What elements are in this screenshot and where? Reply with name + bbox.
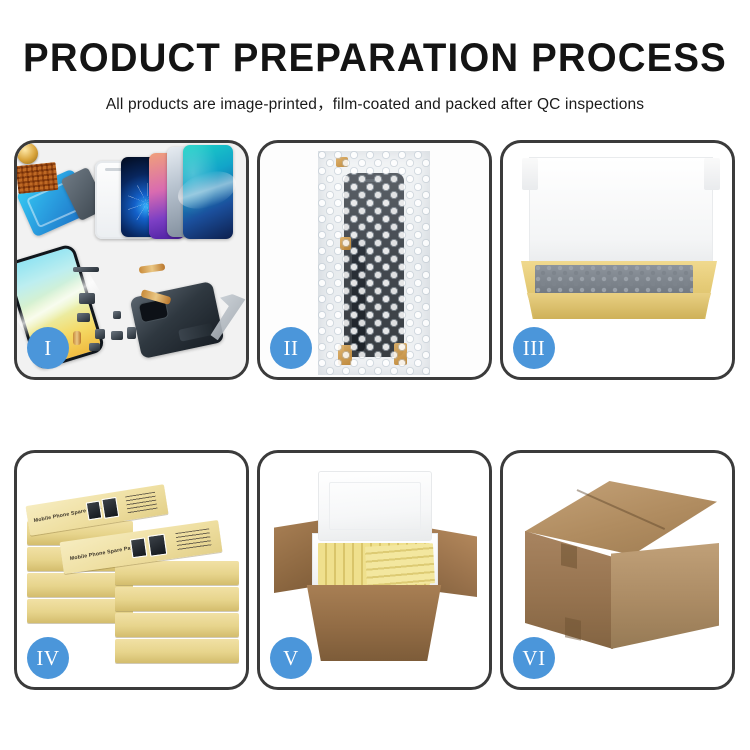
- stacked-box: [115, 587, 239, 611]
- box-spec-lines: [125, 492, 157, 514]
- process-step-panel-2[interactable]: II: [257, 140, 492, 380]
- step-badge-6: VI: [513, 637, 555, 679]
- box-thumbnail: [148, 534, 168, 557]
- product-preparation-process-page: PRODUCT PREPARATION PROCESS All products…: [0, 0, 750, 750]
- flex-cable-graphic: [139, 263, 166, 274]
- bubble-texture: [318, 151, 430, 375]
- box-thumbnail: [86, 500, 103, 520]
- copper-mesh-chip-graphic: [17, 162, 58, 194]
- foam-lid-graphic: [318, 471, 432, 541]
- step-badge-4: IV: [27, 637, 69, 679]
- page-title: PRODUCT PREPARATION PROCESS: [15, 38, 735, 78]
- teal-swirl-phone-graphic: [183, 145, 233, 239]
- carton-tape-graphic: [565, 617, 581, 640]
- yellow-box-front-graphic: [523, 293, 715, 319]
- grey-foam-padding-graphic: [535, 265, 693, 297]
- box-thumbnail: [101, 497, 119, 519]
- step-badge-2: II: [270, 327, 312, 369]
- gold-coil-graphic: [17, 143, 38, 164]
- small-part-graphic: [73, 267, 99, 272]
- stacked-box: [115, 613, 239, 637]
- page-subtitle: All products are image-printed，film-coat…: [0, 92, 750, 114]
- carton-body-graphic: [304, 585, 444, 661]
- page-header: PRODUCT PREPARATION PROCESS All products…: [0, 0, 750, 114]
- process-step-grid: I II: [14, 140, 736, 690]
- process-step-panel-1[interactable]: I: [14, 140, 249, 380]
- small-part-graphic: [77, 313, 90, 322]
- small-part-graphic: [127, 327, 136, 339]
- small-part-graphic: [111, 331, 123, 340]
- small-part-graphic: [89, 343, 100, 351]
- yellow-boxes-row-graphic: [365, 543, 435, 587]
- small-part-graphic: [113, 311, 121, 319]
- process-step-panel-3[interactable]: III: [500, 140, 735, 380]
- step-badge-3: III: [513, 327, 555, 369]
- step-badge-1: I: [27, 327, 69, 369]
- flex-cable-graphic: [73, 331, 81, 345]
- white-box-lid-graphic: [529, 157, 713, 275]
- small-part-graphic: [95, 329, 105, 339]
- box-thumbnail: [130, 537, 147, 558]
- small-part-graphic: [79, 293, 95, 304]
- stacked-box: [115, 639, 239, 663]
- process-step-panel-5[interactable]: V: [257, 450, 492, 690]
- step-badge-5: V: [270, 637, 312, 679]
- carton-right-face-graphic: [611, 543, 719, 649]
- box-spec-lines: [175, 528, 211, 552]
- box-label-text: Mobile Phone Spare Parts: [70, 544, 139, 562]
- process-step-panel-6[interactable]: VI: [500, 450, 735, 690]
- process-step-panel-4[interactable]: Mobile Phone Spare Parts Mobile Phone Sp…: [14, 450, 249, 690]
- bubble-wrap-bag-graphic: [318, 151, 430, 375]
- carton-tape-graphic: [561, 543, 577, 568]
- stacked-box: [115, 561, 239, 585]
